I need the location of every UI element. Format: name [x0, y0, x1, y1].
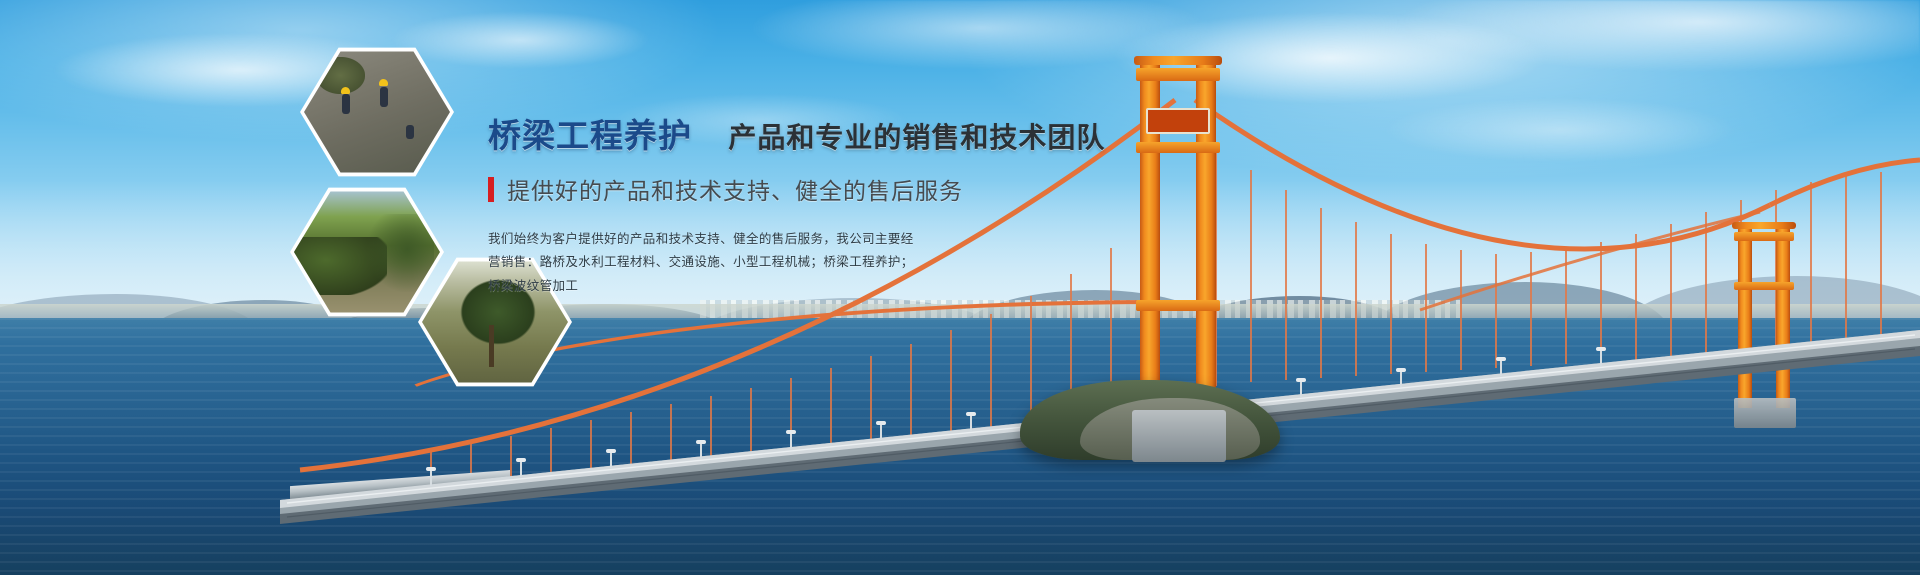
banner-headline: 桥梁工程养护 产品和专业的销售和技术团队 [488, 118, 1128, 154]
banner-subheadline: 提供好的产品和技术支持、健全的售后服务 [488, 172, 1128, 206]
headline-primary: 桥梁工程养护 [488, 117, 692, 154]
hex-photo-rockfall-mesh-installation[interactable] [300, 45, 454, 179]
banner-description: 我们始终为客户提供好的产品和技术支持、健全的售后服务，我公司主要经营销售：路桥及… [488, 228, 918, 297]
hero-banner: 桥梁工程养护 产品和专业的销售和技术团队 提供好的产品和技术支持、健全的售后服务… [0, 0, 1920, 575]
hex-photo-slope-protection-mesh[interactable] [290, 185, 444, 319]
bridge-pier [1132, 410, 1226, 462]
accent-bar-icon [488, 177, 494, 202]
banner-copy: 桥梁工程养护 产品和专业的销售和技术团队 提供好的产品和技术支持、健全的售后服务… [488, 118, 1128, 298]
subheadline-text: 提供好的产品和技术支持、健全的售后服务 [507, 172, 963, 206]
bridge-pier-secondary [1734, 398, 1796, 428]
headline-secondary: 产品和专业的销售和技术团队 [728, 122, 1105, 153]
